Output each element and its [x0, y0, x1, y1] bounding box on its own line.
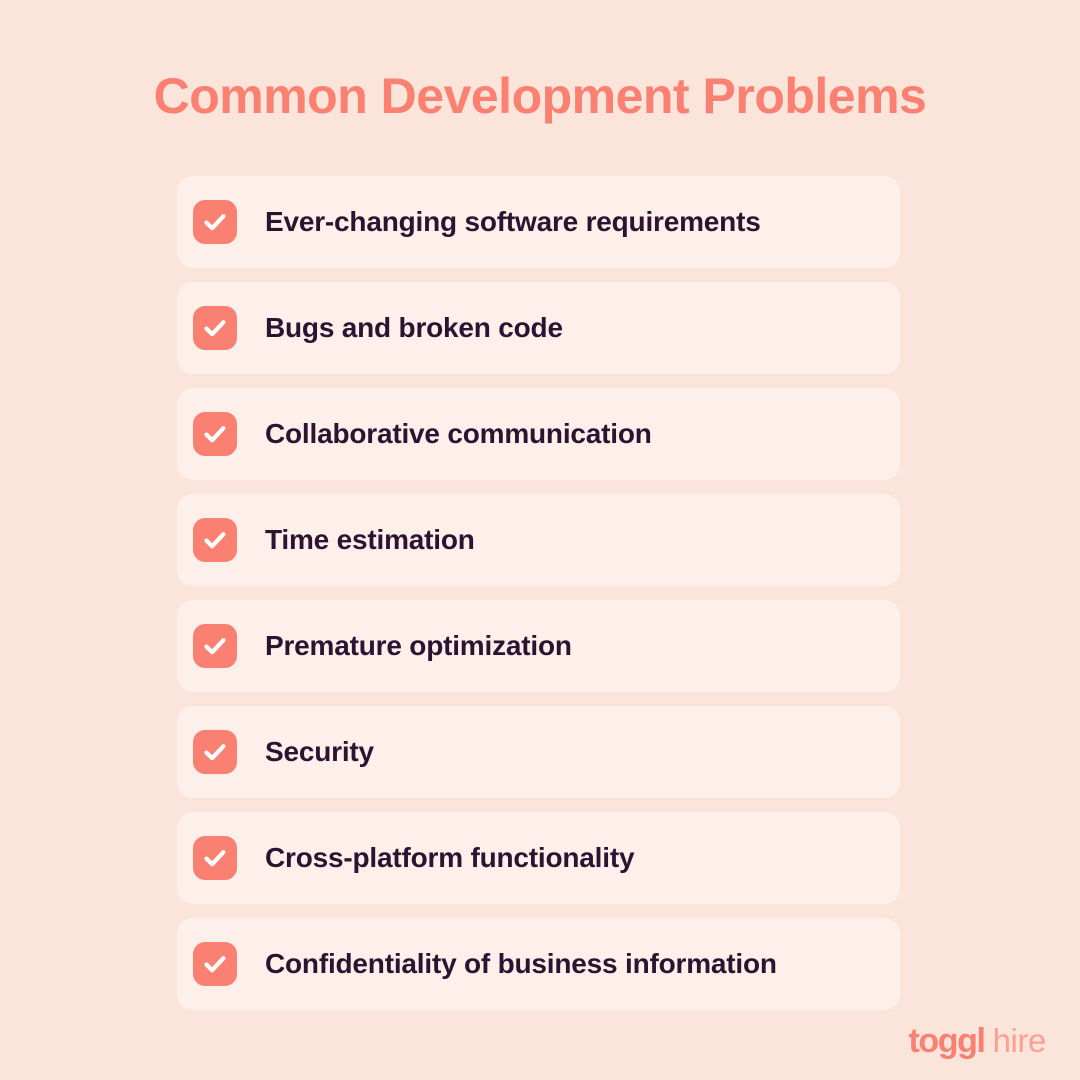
checklist-row[interactable]: Collaborative communication: [177, 388, 900, 480]
checklist-row-label: Premature optimization: [265, 631, 572, 662]
checklist-row-label: Cross-platform functionality: [265, 843, 634, 874]
checkmark-icon[interactable]: [193, 730, 237, 774]
checkmark-icon[interactable]: [193, 200, 237, 244]
checklist-row[interactable]: Confidentiality of business information: [177, 918, 900, 1010]
checklist-row[interactable]: Cross-platform functionality: [177, 812, 900, 904]
toggl-hire-logo: toggl hire: [908, 1024, 1046, 1058]
page-title: Common Development Problems: [0, 68, 1080, 124]
checkmark-icon[interactable]: [193, 624, 237, 668]
checklist-row-label: Time estimation: [265, 525, 475, 556]
checklist-row[interactable]: Ever-changing software requirements: [177, 176, 900, 268]
checklist-row[interactable]: Security: [177, 706, 900, 798]
checklist-row-label: Security: [265, 737, 374, 768]
poster-canvas: Common Development Problems Ever-changin…: [0, 0, 1080, 1080]
checklist-row-label: Ever-changing software requirements: [265, 207, 761, 238]
logo-wordmark-hire: hire: [993, 1024, 1046, 1057]
checklist-row[interactable]: Bugs and broken code: [177, 282, 900, 374]
checklist-row[interactable]: Premature optimization: [177, 600, 900, 692]
checklist-row[interactable]: Time estimation: [177, 494, 900, 586]
checkmark-icon[interactable]: [193, 412, 237, 456]
checklist-row-label: Confidentiality of business information: [265, 949, 777, 980]
checklist-row-label: Bugs and broken code: [265, 313, 563, 344]
checkmark-icon[interactable]: [193, 306, 237, 350]
checkmark-icon[interactable]: [193, 836, 237, 880]
checkmark-icon[interactable]: [193, 518, 237, 562]
checkmark-icon[interactable]: [193, 942, 237, 986]
checklist: Ever-changing software requirementsBugs …: [177, 176, 900, 1010]
logo-wordmark-toggl: toggl: [908, 1024, 984, 1058]
checklist-row-label: Collaborative communication: [265, 419, 652, 450]
